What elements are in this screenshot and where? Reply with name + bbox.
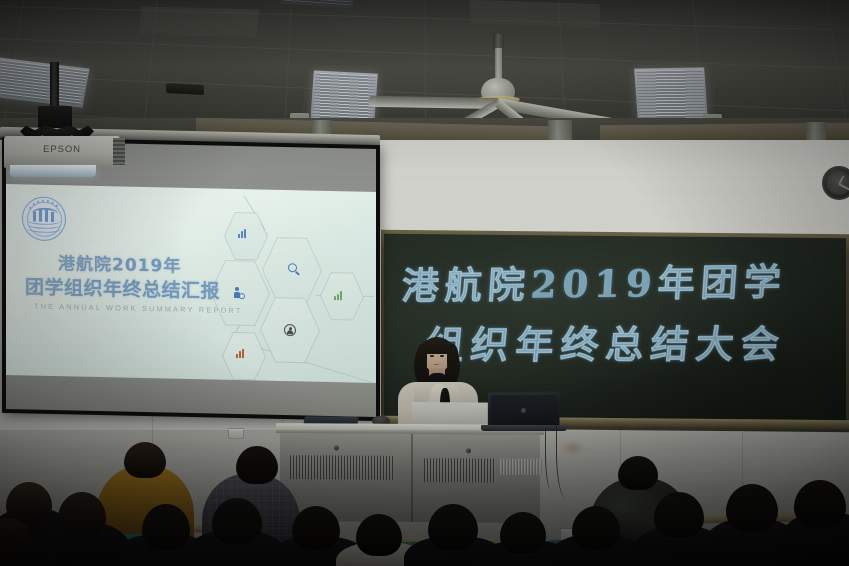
person-gear-icon — [234, 287, 245, 299]
projector-body: EPSON — [4, 136, 120, 168]
projector-brand-label: EPSON — [4, 144, 120, 155]
seated-audience — [0, 430, 849, 566]
attendee-head — [500, 512, 546, 554]
hex-cell — [222, 331, 266, 382]
classroom-photo: 港航院2019年团学 组织年终总结大会 — [0, 0, 849, 566]
attendee-head — [124, 442, 166, 478]
attendee-head — [212, 498, 262, 544]
attendee-head — [428, 504, 478, 550]
attendee-head — [292, 506, 340, 550]
laptop-logo — [521, 408, 526, 413]
projector-vent — [113, 138, 125, 165]
ceiling-light-fixture — [634, 67, 708, 122]
presentation-slide: 港航院2019年 团学组织年终总结汇报 THE ANNUAL WORK SUMM… — [6, 184, 376, 383]
attendee-head — [726, 484, 778, 532]
projector-mount-joint — [38, 106, 72, 128]
bar-chart-icon — [238, 229, 246, 238]
emblem-waves — [27, 220, 61, 233]
attendee-head — [142, 504, 190, 550]
wall-clock — [822, 166, 849, 200]
attendee-head — [356, 514, 402, 556]
person-circle-icon — [284, 324, 296, 336]
magnifier-icon — [288, 263, 297, 272]
laptop-lid — [488, 392, 560, 427]
bar-chart-icon — [334, 291, 342, 300]
projection-screen: 港航院2019年 团学组织年终总结汇报 THE ANNUAL WORK SUMM… — [2, 137, 380, 421]
blackboard-text-line-1: 港航院2019年团学 — [400, 252, 788, 310]
slide-subtitle: THE ANNUAL WORK SUMMARY REPORT — [34, 302, 243, 316]
attendee-head — [618, 456, 658, 490]
bar-chart-icon — [236, 349, 244, 358]
attendee-head — [654, 492, 704, 538]
attendee-head — [572, 506, 620, 550]
projector-lens — [10, 165, 96, 177]
attendee-head — [58, 492, 106, 538]
attendee-head — [794, 480, 846, 528]
attendee-head — [236, 446, 278, 484]
hex-cell — [224, 211, 268, 262]
presenter-hair — [416, 344, 427, 384]
hex-cell — [320, 271, 364, 322]
slide-title-line-2: 团学组织年终总结汇报 — [25, 272, 220, 303]
smoke-detector — [166, 83, 204, 95]
university-emblem-icon — [22, 196, 66, 241]
